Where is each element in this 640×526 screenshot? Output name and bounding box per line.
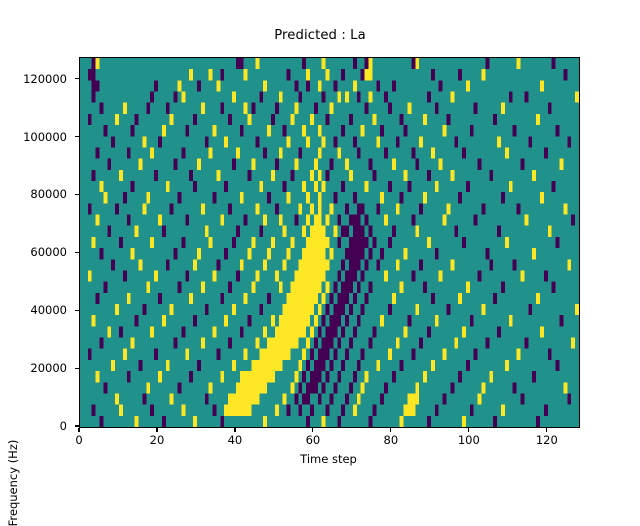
heatmap-axes: [79, 57, 580, 428]
x-tick-mark: [312, 428, 313, 432]
y-tick-mark: [75, 368, 79, 369]
matplotlib-figure: Predicted : La 020406080100120 020000400…: [0, 0, 640, 480]
x-tick-label: 60: [306, 433, 321, 447]
x-tick-mark: [390, 428, 391, 432]
y-tick-label: 20000: [0, 361, 71, 375]
x-tick-mark: [156, 428, 157, 432]
chart-title: Predicted : La: [0, 28, 640, 43]
x-tick-mark: [468, 428, 469, 432]
x-tick-label: 0: [75, 433, 82, 447]
y-tick-mark: [75, 78, 79, 79]
y-axis-label: Frequency (Hz): [6, 439, 20, 526]
x-tick-label: 80: [384, 433, 399, 447]
x-tick-mark: [546, 428, 547, 432]
y-tick-label: 120000: [0, 72, 71, 86]
y-tick-mark: [75, 252, 79, 253]
y-tick-mark: [75, 136, 79, 137]
y-tick-label: 40000: [0, 303, 71, 317]
y-tick-label: 100000: [0, 130, 71, 144]
x-tick-label: 120: [536, 433, 558, 447]
x-axis-label: Time step: [79, 452, 578, 466]
heatmap-image: [80, 58, 579, 427]
y-tick-label: 80000: [0, 187, 71, 201]
y-tick-label: 0: [0, 419, 71, 433]
y-tick-mark: [75, 310, 79, 311]
y-tick-mark: [75, 194, 79, 195]
x-tick-label: 100: [458, 433, 480, 447]
x-tick-label: 40: [228, 433, 243, 447]
y-tick-label: 60000: [0, 245, 71, 259]
x-tick-label: 20: [150, 433, 165, 447]
x-tick-mark: [234, 428, 235, 432]
y-tick-mark: [75, 425, 79, 426]
x-tick-mark: [78, 428, 79, 432]
